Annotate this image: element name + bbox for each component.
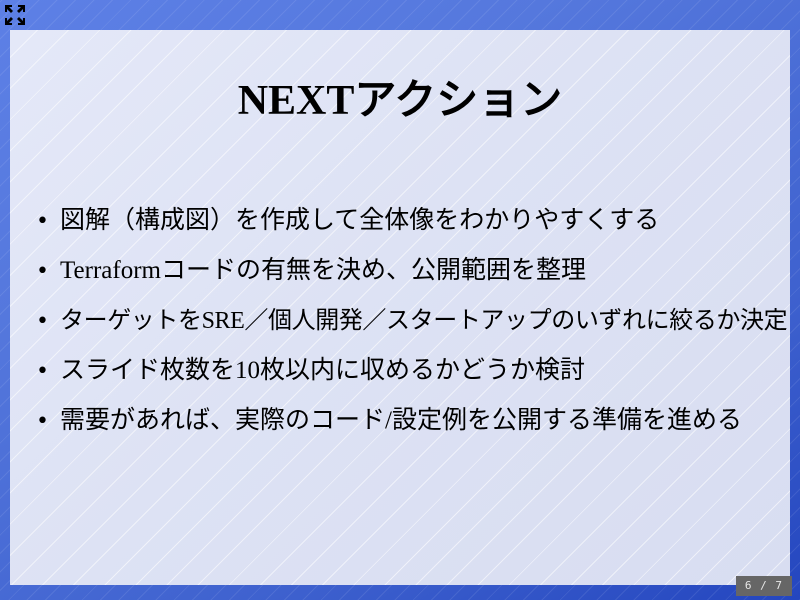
bullet-point-icon: • bbox=[36, 297, 60, 347]
bullet-text: Terraformコードの有無を決め、公開範囲を整理 bbox=[60, 246, 788, 296]
list-item: • 需要があれば、実際のコード/設定例を公開する準備を進める bbox=[36, 396, 788, 446]
list-item: • 図解（構成図）を作成して全体像をわかりやすくする bbox=[36, 196, 788, 246]
list-item: • ターゲットをSRE／個人開発／スタートアップのいずれに絞るか決定 bbox=[36, 296, 788, 346]
page-number-badge: 6 / 7 bbox=[736, 576, 792, 596]
bullet-point-icon: • bbox=[36, 347, 60, 397]
bullet-text: スライド枚数を10枚以内に収めるかどうか検討 bbox=[60, 346, 788, 396]
bullet-text: 需要があれば、実際のコード/設定例を公開する準備を進める bbox=[60, 396, 788, 446]
bullet-point-icon: • bbox=[36, 197, 60, 247]
page-title: NEXTアクション bbox=[10, 78, 790, 124]
list-item: • Terraformコードの有無を決め、公開範囲を整理 bbox=[36, 246, 788, 296]
bullet-text: ターゲットをSRE／個人開発／スタートアップのいずれに絞るか決定 bbox=[60, 296, 788, 346]
collapse-arrows-icon[interactable] bbox=[4, 4, 26, 26]
bullet-text: 図解（構成図）を作成して全体像をわかりやすくする bbox=[60, 196, 788, 246]
bullet-point-icon: • bbox=[36, 247, 60, 297]
list-item: • スライド枚数を10枚以内に収めるかどうか検討 bbox=[36, 346, 788, 396]
slide-surface: NEXTアクション • 図解（構成図）を作成して全体像をわかりやすくする • T… bbox=[10, 30, 790, 585]
viewer-toolbar bbox=[0, 0, 800, 30]
presentation-viewer: NEXTアクション • 図解（構成図）を作成して全体像をわかりやすくする • T… bbox=[0, 0, 800, 600]
bullet-list: • 図解（構成図）を作成して全体像をわかりやすくする • Terraformコー… bbox=[36, 196, 788, 446]
bullet-point-icon: • bbox=[36, 397, 60, 447]
